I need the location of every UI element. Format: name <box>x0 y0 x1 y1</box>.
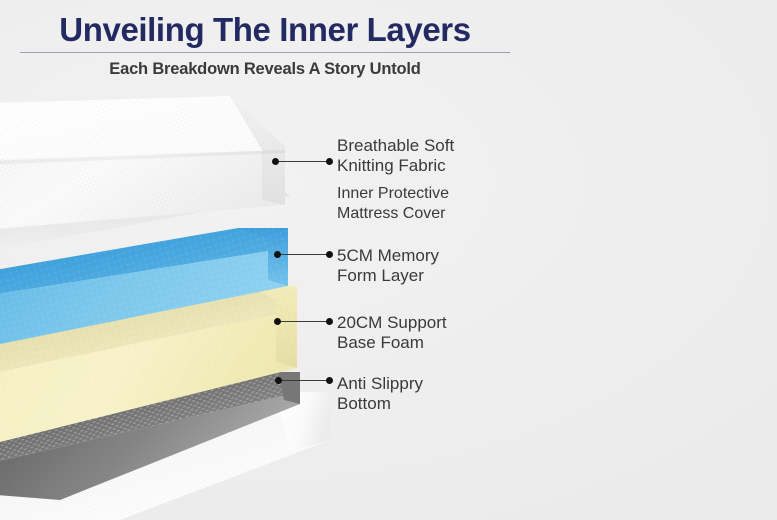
title-divider <box>20 52 510 53</box>
callout-label-memory-foam: 5CM Memory Form Layer <box>337 246 439 286</box>
header: Unveiling The Inner Layers Each Breakdow… <box>0 10 530 79</box>
callout-label-knitting-fabric: Breathable Soft Knitting Fabric <box>337 136 454 176</box>
callout-label-anti-slip: Anti Slippry Bottom <box>337 374 423 414</box>
mattress-layers-infographic: Unveiling The Inner Layers Each Breakdow… <box>0 0 777 520</box>
callout-dot-anti-slip <box>275 377 282 384</box>
callout-endpoint-memory-foam <box>326 251 333 258</box>
callout-endpoint-knitting-fabric <box>326 158 333 165</box>
callout-endpoint-support-foam <box>326 318 333 325</box>
callout-label-inner-cover: Inner Protective Mattress Cover <box>337 184 449 224</box>
callout-label-support-foam: 20CM Support Base Foam <box>337 313 447 353</box>
page-title: Unveiling The Inner Layers <box>0 10 530 50</box>
callout-endpoint-anti-slip <box>326 377 333 384</box>
page-subtitle: Each Breakdown Reveals A Story Untold <box>0 60 530 79</box>
callout-leader-support-foam <box>281 321 327 322</box>
callout-dot-memory-foam <box>274 251 281 258</box>
callout-leader-memory-foam <box>281 254 327 255</box>
callout-leader-anti-slip <box>282 380 327 381</box>
callout-dot-support-foam <box>274 318 281 325</box>
callout-leader-knitting-fabric <box>279 161 327 162</box>
callout-dot-knitting-fabric <box>272 158 279 165</box>
